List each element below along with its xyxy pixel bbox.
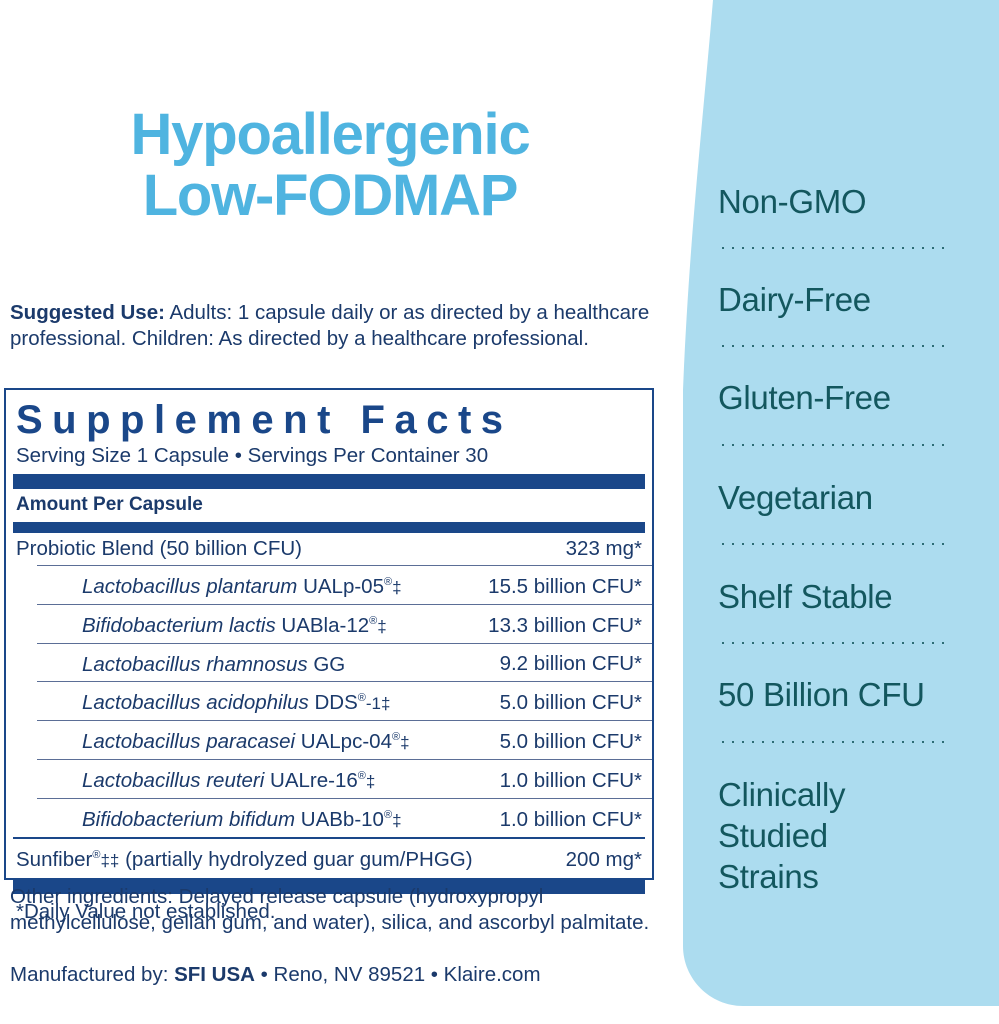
benefit-item-non-gmo: Non-GMO <box>718 181 983 222</box>
ingredient-name: Lactobacillus acidophilus DDS®-1‡ <box>82 686 390 716</box>
benefit-item-vegetarian: Vegetarian <box>718 477 983 518</box>
page-title-line-1: Hypoallergenic <box>0 104 660 165</box>
benefits-list: Non-GMO Dairy-Free Gluten-Free Vegetaria… <box>718 0 983 1006</box>
amount-per-capsule-header: Amount Per Capsule <box>6 489 652 522</box>
suggested-use-label: Suggested Use: <box>10 301 165 324</box>
ingredient-name: Sunfiber®‡‡ (partially hydrolyzed guar g… <box>16 843 473 873</box>
ingredient-name: Lactobacillus reuteri UALre-16®‡ <box>82 764 375 794</box>
benefit-separator-dots <box>718 246 950 250</box>
benefit-item-dairy-free: Dairy-Free <box>718 279 983 320</box>
ingredient-amount: 5.0 billion CFU* <box>490 730 642 754</box>
manufacturer-address: • Reno, NV 89521 • Klaire.com <box>255 963 541 986</box>
divider-bar-medium <box>13 522 645 531</box>
manufacturer-name: SFI USA <box>174 963 255 986</box>
ingredient-amount: 5.0 billion CFU* <box>490 691 642 715</box>
other-ingredients-paragraph: Other ingredients: Delayed release capsu… <box>10 884 658 935</box>
table-row: Bifidobacterium lactis UABla-12®‡ 13.3 b… <box>37 604 652 643</box>
benefit-item-clinically-studied-strains: Clinically Studied Strains <box>718 774 983 897</box>
benefit-item-gluten-free: Gluten-Free <box>718 377 983 418</box>
ingredient-name: Bifidobacterium bifidum UABb-10®‡ <box>82 803 402 833</box>
ingredient-amount: 1.0 billion CFU* <box>490 769 642 793</box>
suggested-use-paragraph: Suggested Use: Adults: 1 capsule daily o… <box>10 300 658 351</box>
ingredient-name: Probiotic Blend (50 billion CFU) <box>16 537 302 561</box>
table-row: Lactobacillus acidophilus DDS®-1‡ 5.0 bi… <box>37 681 652 720</box>
ingredient-name: Lactobacillus paracasei UALpc-04®‡ <box>82 725 410 755</box>
ingredient-amount: 9.2 billion CFU* <box>490 652 642 676</box>
manufactured-by-prefix: Manufactured by: <box>10 963 174 986</box>
ingredient-amount: 200 mg* <box>556 848 642 872</box>
ingredient-amount: 15.5 billion CFU* <box>478 575 642 599</box>
ingredient-name: Lactobacillus rhamnosus GG <box>82 648 345 678</box>
table-row: Bifidobacterium bifidum UABb-10®‡ 1.0 bi… <box>37 798 652 837</box>
supplement-facts-panel: Supplement Facts Serving Size 1 Capsule … <box>4 388 654 880</box>
ingredient-name: Bifidobacterium lactis UABla-12®‡ <box>82 609 387 639</box>
benefit-item-shelf-stable: Shelf Stable <box>718 576 983 617</box>
benefit-separator-dots <box>718 344 950 348</box>
page-title-line-2: Low-FODMAP <box>0 165 660 226</box>
ingredient-amount: 1.0 billion CFU* <box>490 808 642 832</box>
ingredient-amount: 13.3 billion CFU* <box>478 614 642 638</box>
ingredient-name: Lactobacillus plantarum UALp-05®‡ <box>82 570 402 600</box>
table-row: Sunfiber®‡‡ (partially hydrolyzed guar g… <box>13 837 645 877</box>
benefits-panel: Non-GMO Dairy-Free Gluten-Free Vegetaria… <box>683 0 999 1006</box>
benefit-separator-dots <box>718 740 950 744</box>
divider-bar-thick <box>13 474 645 489</box>
table-row: Lactobacillus paracasei UALpc-04®‡ 5.0 b… <box>37 720 652 759</box>
table-row: Lactobacillus plantarum UALp-05®‡ 15.5 b… <box>37 565 652 604</box>
table-row: Lactobacillus rhamnosus GG 9.2 billion C… <box>37 643 652 682</box>
benefit-separator-dots <box>718 443 950 447</box>
serving-size-line: Serving Size 1 Capsule • Servings Per Co… <box>6 442 652 474</box>
benefit-item-50-billion-cfu: 50 Billion CFU <box>718 674 983 715</box>
benefit-separator-dots <box>718 641 950 645</box>
supplement-facts-title: Supplement Facts <box>6 390 652 442</box>
table-row: Lactobacillus reuteri UALre-16®‡ 1.0 bil… <box>37 759 652 798</box>
ingredient-amount: 323 mg* <box>556 537 642 561</box>
page-title: Hypoallergenic Low-FODMAP <box>0 104 660 226</box>
benefit-separator-dots <box>718 542 950 546</box>
table-row: Probiotic Blend (50 billion CFU) 323 mg* <box>13 531 645 565</box>
manufactured-by-line: Manufactured by: SFI USA • Reno, NV 8952… <box>10 962 658 988</box>
